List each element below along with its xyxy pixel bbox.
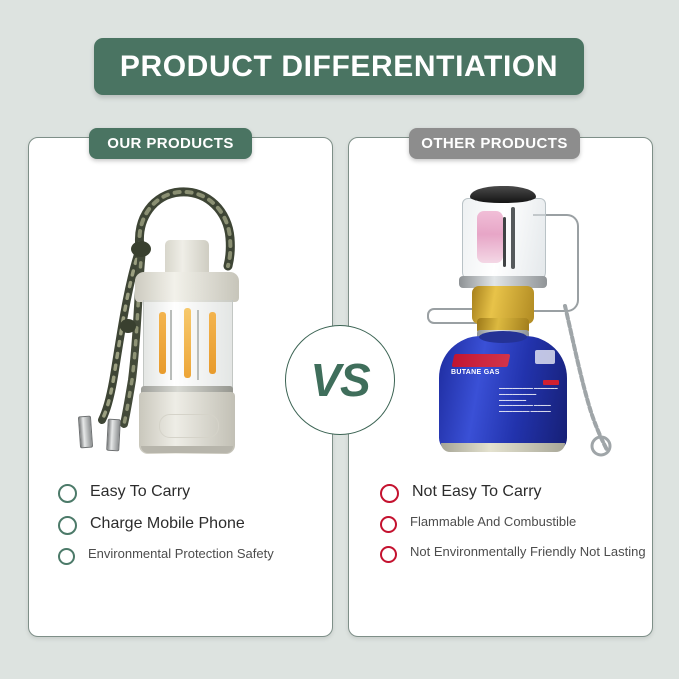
circle-bullet-icon: [380, 484, 399, 503]
lantern-base: [139, 392, 235, 454]
list-item: Not Environmentally Friendly Not Lasting: [380, 544, 660, 563]
list-item: Flammable And Combustible: [380, 514, 660, 533]
paracord-metal-tip: [78, 416, 93, 449]
lantern-bottom-edge: [141, 446, 233, 453]
lantern-filament: [184, 308, 191, 378]
feature-list-other-products: Not Easy To Carry Flammable And Combusti…: [380, 482, 660, 574]
header-pill-our-products: OUR PRODUCTS: [89, 128, 252, 159]
lantern-filament: [209, 312, 216, 374]
list-item-label: Charge Mobile Phone: [90, 514, 245, 534]
lantern-glass-chamber: [143, 300, 233, 392]
circle-bullet-icon: [380, 546, 397, 563]
lantern-filament-post: [197, 310, 199, 380]
page-title: PRODUCT DIFFERENTIATION: [120, 50, 558, 84]
circle-bullet-icon: [380, 516, 397, 533]
circle-bullet-icon: [58, 548, 75, 565]
header-pill-other-products: OTHER PRODUCTS: [409, 128, 580, 159]
list-item: Environmental Protection Safety: [58, 546, 338, 565]
list-item: Easy To Carry: [58, 482, 338, 503]
circle-bullet-icon: [58, 516, 77, 535]
list-item-label: Not Environmentally Friendly Not Lasting: [410, 544, 646, 560]
lantern-cap: [135, 272, 239, 302]
versus-label: VS: [310, 353, 369, 407]
feature-list-our-products: Easy To Carry Charge Mobile Phone Enviro…: [58, 482, 338, 576]
lantern-top-knob: [165, 240, 209, 276]
lantern-body: [135, 240, 239, 455]
paracord-metal-tip: [106, 419, 121, 452]
comparison-infographic: PRODUCT DIFFERENTIATION: [0, 0, 679, 679]
header-pill-our-products-label: OUR PRODUCTS: [107, 135, 233, 152]
product-image-led-lantern: [62, 176, 292, 461]
lantern-filament: [159, 312, 166, 374]
list-item-label: Flammable And Combustible: [410, 514, 576, 530]
list-item-label: Environmental Protection Safety: [88, 546, 274, 562]
list-item: Not Easy To Carry: [380, 482, 660, 503]
list-item-label: Not Easy To Carry: [412, 482, 542, 502]
page-title-banner: PRODUCT DIFFERENTIATION: [94, 38, 584, 95]
list-item: Charge Mobile Phone: [58, 514, 338, 535]
list-item-label: Easy To Carry: [90, 482, 190, 502]
versus-badge: VS: [285, 325, 395, 435]
lantern-filament-post: [170, 310, 172, 380]
circle-bullet-icon: [58, 484, 77, 503]
lantern-embossed-panel: [159, 414, 219, 438]
header-pill-other-products-label: OTHER PRODUCTS: [421, 135, 567, 152]
gas-lantern-chain-icon: [415, 180, 625, 465]
product-image-gas-lantern: BUTANE GAS ▬▬▬▬▬▬▬▬▬▬ ▬▬▬▬▬▬▬ ▬▬▬▬▬▬▬▬▬▬…: [415, 180, 625, 465]
